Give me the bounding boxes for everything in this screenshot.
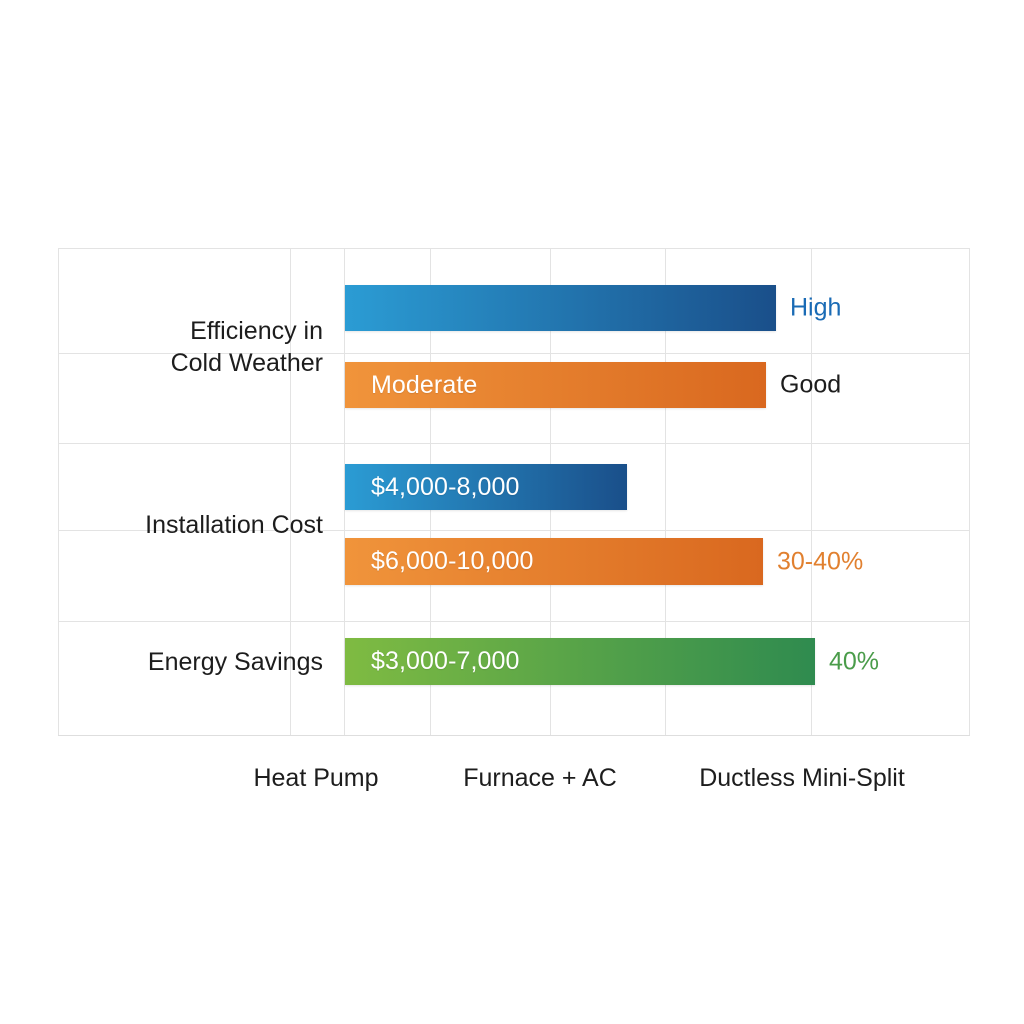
row-label: Energy Savings — [148, 646, 323, 678]
bar-outer-label: 40% — [829, 649, 879, 674]
bar-value-label: $4,000-8,000 — [345, 475, 520, 500]
bar-value-label: Moderate — [345, 373, 477, 398]
bar[interactable]: $3,000-7,000 — [345, 638, 815, 685]
x-tick-label: Furnace + AC — [463, 766, 617, 791]
bar[interactable]: $6,000-10,000 — [345, 538, 763, 585]
row-labels: Efficiency in Cold WeatherInstallation C… — [58, 248, 323, 736]
bar-value-label: $6,000-10,000 — [345, 549, 534, 574]
row-label: Efficiency in Cold Weather — [171, 315, 323, 379]
bar[interactable]: Moderate — [345, 362, 766, 408]
bar-outer-label: 30-40% — [777, 549, 863, 574]
x-tick-label: Heat Pump — [253, 766, 378, 791]
bar[interactable] — [345, 285, 776, 331]
bar-outer-label: High — [790, 296, 841, 321]
bar-outer-label: Good — [780, 373, 841, 398]
row-label: Installation Cost — [145, 509, 323, 541]
x-tick-label: Ductless Mini-Split — [699, 766, 905, 791]
bar[interactable]: $4,000-8,000 — [345, 464, 627, 510]
chart-container: HighModerateGood$4,000-8,000$6,000-10,00… — [0, 0, 1024, 1024]
bar-value-label: $3,000-7,000 — [345, 649, 520, 674]
